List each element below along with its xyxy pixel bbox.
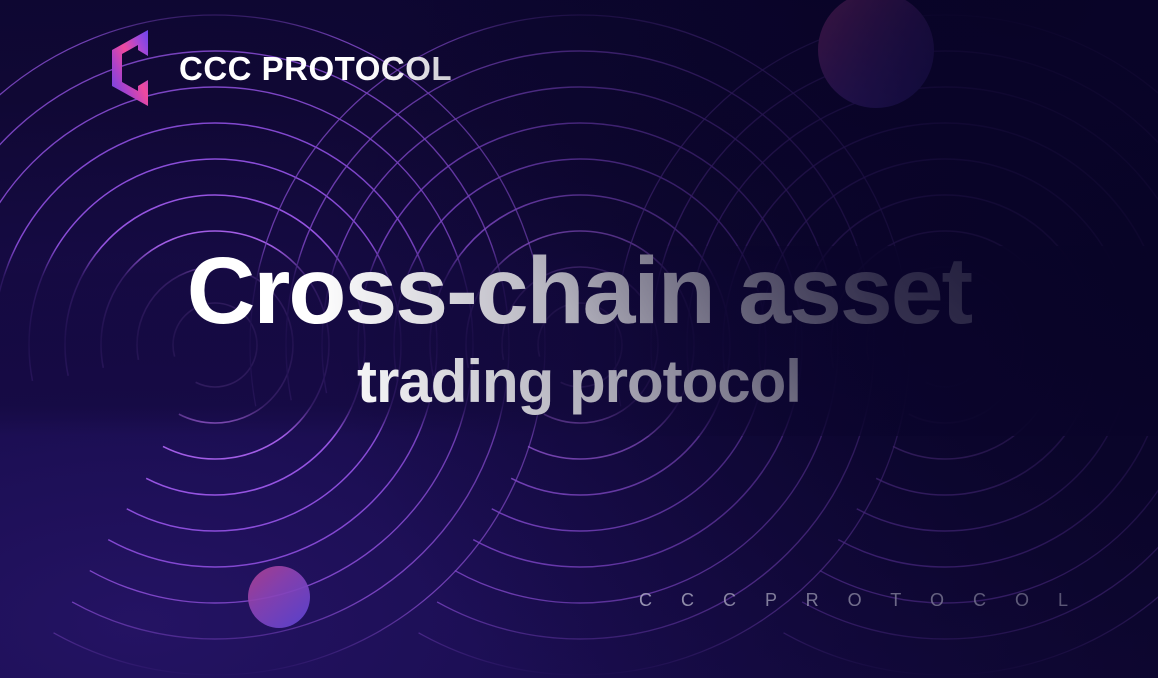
ccc-diamond-logo-icon	[100, 28, 160, 108]
hero-title: Cross-chain asset	[0, 243, 1158, 340]
brand-lockup[interactable]: CCC PROTOCOL	[100, 28, 452, 108]
hero-subtitle: trading protocol	[0, 350, 1158, 413]
brand-name: CCC PROTOCOL	[179, 52, 452, 85]
footer-wordmark: C C C P R O T O C O L	[639, 590, 1080, 611]
hero-banner: CCC PROTOCOL Cross-chain asset trading p…	[0, 0, 1158, 678]
hero-copy: Cross-chain asset trading protocol	[0, 243, 1158, 413]
gradient-sphere-bottom-left	[248, 566, 310, 628]
